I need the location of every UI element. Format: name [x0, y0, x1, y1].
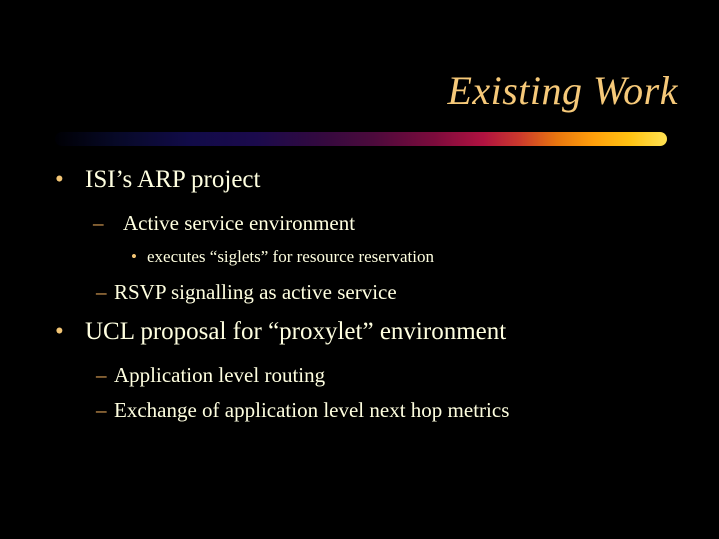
bullet-text: Active service environment: [123, 209, 355, 238]
bullet-text: UCL proposal for “proxylet” environment: [85, 315, 506, 348]
bullet-level2-exchange-metrics: – Exchange of application level next hop…: [0, 396, 719, 425]
bullet-marker-dot: •: [131, 244, 147, 269]
bullet-text: Application level routing: [114, 361, 325, 390]
bullet-marker-dash: –: [96, 361, 114, 390]
slide-canvas: Existing Work • ISI’s ARP project – Acti…: [0, 0, 719, 539]
bullet-marker-dot: •: [55, 163, 85, 196]
bullet-text: Exchange of application level next hop m…: [114, 396, 509, 425]
bullet-text: executes “siglets” for resource reservat…: [147, 244, 434, 269]
bullet-level1-isi: • ISI’s ARP project: [0, 163, 719, 196]
bullet-marker-dot: •: [55, 315, 85, 348]
spacer: [0, 269, 719, 278]
page-title: Existing Work: [0, 68, 678, 114]
bullet-level1-ucl: • UCL proposal for “proxylet” environmen…: [0, 315, 719, 348]
bullet-level3-siglets: • executes “siglets” for resource reserv…: [0, 244, 719, 269]
bullet-marker-dash: –: [93, 209, 123, 238]
bullet-level2-active-service: – Active service environment: [0, 209, 719, 238]
bullet-marker-dash: –: [96, 396, 114, 425]
bullet-text: ISI’s ARP project: [85, 163, 260, 196]
bullet-level2-rsvp: – RSVP signalling as active service: [0, 278, 719, 307]
spacer: [0, 307, 719, 315]
bullet-marker-dash: –: [96, 278, 114, 307]
slide-body: • ISI’s ARP project – Active service env…: [0, 163, 719, 425]
bullet-level2-app-routing: – Application level routing: [0, 361, 719, 390]
spacer: [0, 353, 719, 361]
bullet-text: RSVP signalling as active service: [114, 278, 397, 307]
spacer: [0, 201, 719, 209]
